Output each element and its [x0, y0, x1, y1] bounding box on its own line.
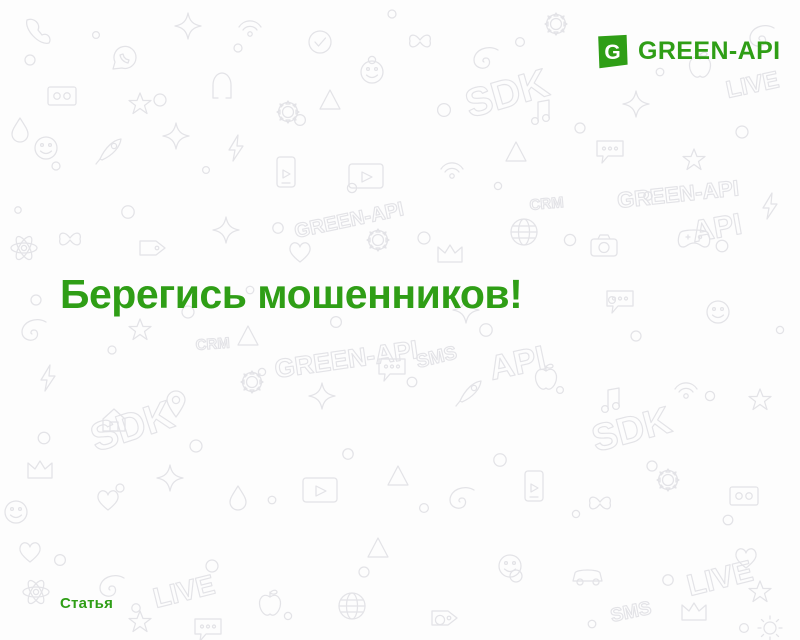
svg-text:SMS: SMS: [609, 598, 654, 627]
brand-wordmark: GREEN-API: [638, 39, 781, 64]
svg-text:GREEN-API: GREEN-API: [616, 175, 740, 213]
svg-text:CRM: CRM: [529, 194, 565, 214]
brand-logo[interactable]: G GREEN-API: [596, 34, 781, 69]
page-headline: Берегись мошенников!: [60, 272, 522, 316]
svg-text:LIVE: LIVE: [684, 555, 757, 603]
category-label: Статья: [60, 596, 113, 611]
svg-text:SDK: SDK: [460, 61, 553, 127]
svg-text:LIVE: LIVE: [724, 66, 782, 104]
svg-text:G: G: [604, 41, 620, 64]
poster-canvas: SDK SDK SDK GREEN-API GREEN-API GREEN-AP…: [0, 0, 800, 640]
green-api-logo-icon: G: [596, 34, 629, 69]
svg-text:CRM: CRM: [195, 335, 230, 354]
svg-text:GREEN-API: GREEN-API: [273, 334, 420, 384]
svg-text:API: API: [486, 339, 549, 388]
svg-text:SMS: SMS: [414, 343, 459, 373]
svg-text:LIVE: LIVE: [150, 569, 218, 614]
svg-text:GREEN-API: GREEN-API: [292, 198, 405, 243]
doodle-pattern-background: SDK SDK SDK GREEN-API GREEN-API GREEN-AP…: [0, 0, 800, 640]
svg-text:SDK: SDK: [85, 393, 179, 461]
svg-text:API: API: [689, 208, 744, 249]
svg-text:SDK: SDK: [587, 399, 676, 460]
